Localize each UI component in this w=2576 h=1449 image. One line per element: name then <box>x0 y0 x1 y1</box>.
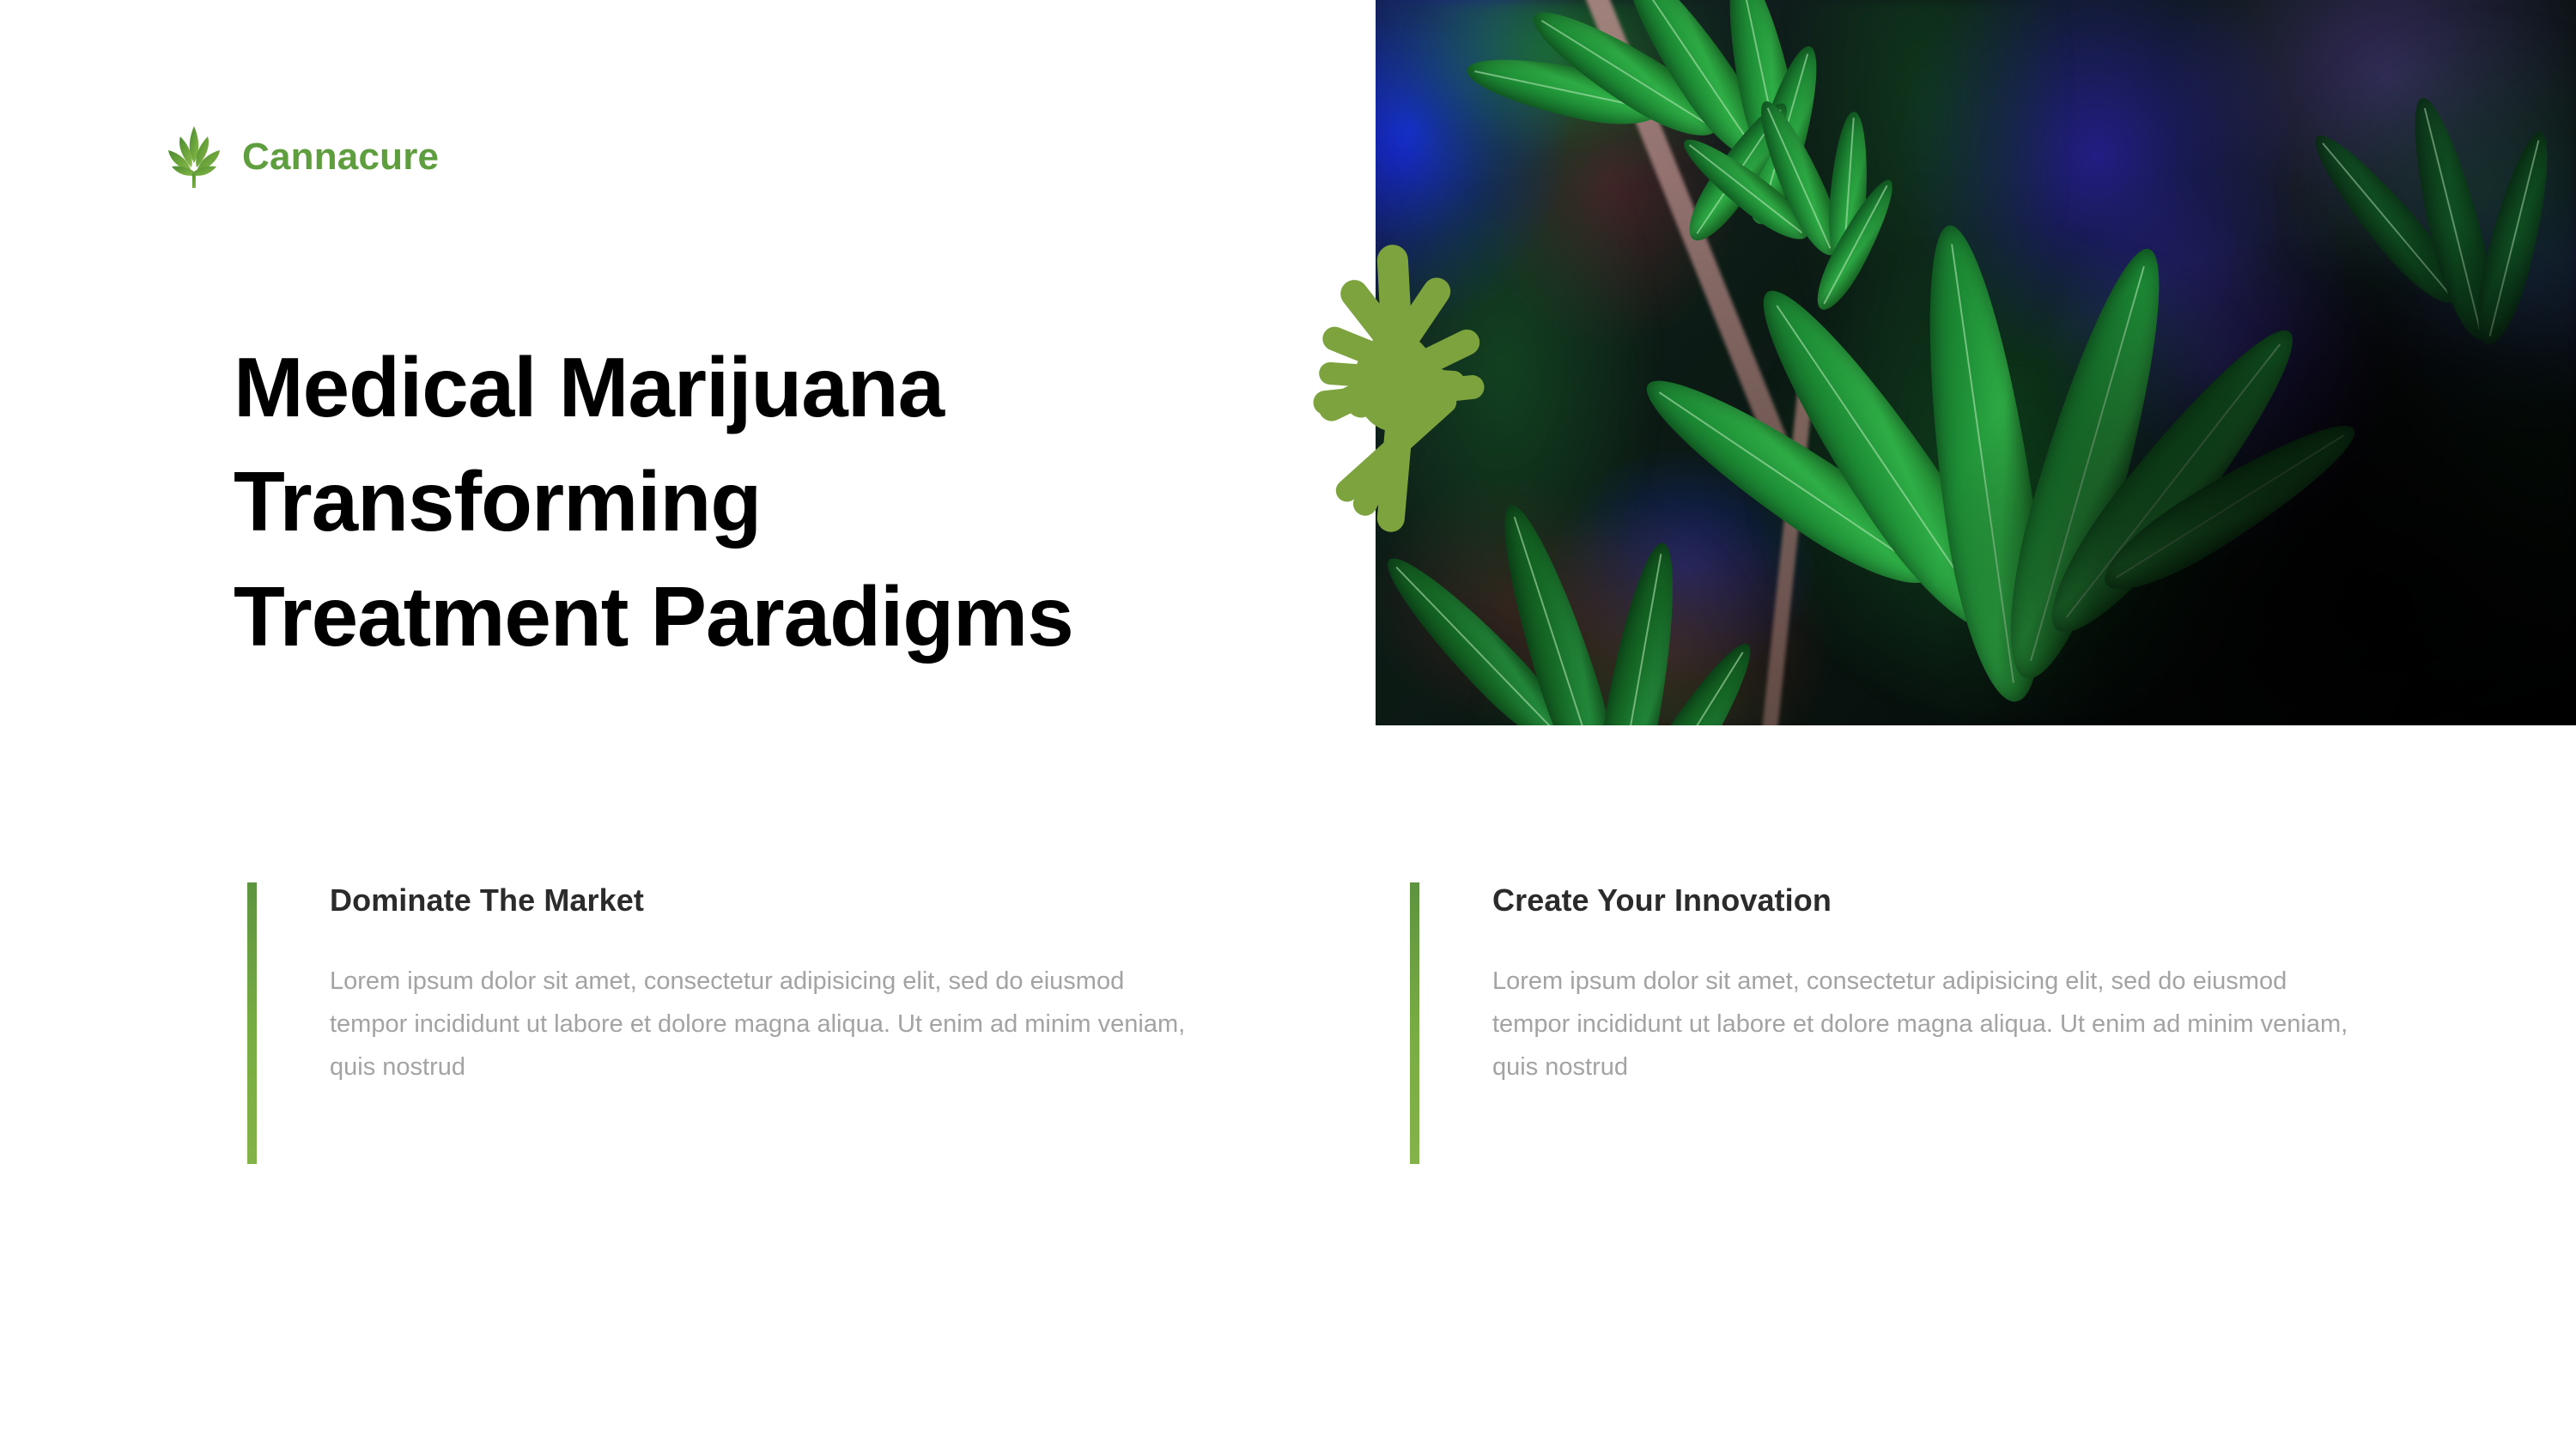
feature-cards: Dominate The Market Lorem ipsum dolor si… <box>0 882 2576 1174</box>
title-line-2: Transforming <box>234 445 1290 559</box>
feature-card-text: Lorem ipsum dolor sit amet, consectetur … <box>330 960 1206 1088</box>
accent-bar <box>1410 882 1419 1164</box>
feature-card-title: Create Your Innovation <box>1492 882 2368 919</box>
cannabis-plant-photo <box>1376 0 2576 725</box>
accent-bar <box>247 882 257 1164</box>
feature-card-title: Dominate The Market <box>330 882 1206 919</box>
title-line-3: Treatment Paradigms <box>234 560 1290 674</box>
feature-card-body: Dominate The Market Lorem ipsum dolor si… <box>330 882 1206 1088</box>
page-title: Medical Marijuana Transforming Treatment… <box>234 330 1290 674</box>
photo-vignette <box>1376 0 2576 725</box>
slide-root: Cannacure Medical Marijuana Transforming… <box>0 0 2576 1449</box>
brand-name: Cannacure <box>242 136 439 179</box>
feature-card-create-your-innovation: Create Your Innovation Lorem ipsum dolor… <box>1410 882 2423 1174</box>
cannabis-leaf-icon <box>163 124 225 190</box>
decorative-leaf-icon <box>1267 236 1524 537</box>
feature-card-dominate-the-market: Dominate The Market Lorem ipsum dolor si… <box>247 882 1261 1174</box>
feature-card-text: Lorem ipsum dolor sit amet, consectetur … <box>1492 960 2368 1088</box>
brand-logo[interactable]: Cannacure <box>163 124 439 190</box>
title-line-1: Medical Marijuana <box>234 330 1290 445</box>
feature-card-body: Create Your Innovation Lorem ipsum dolor… <box>1492 882 2368 1088</box>
